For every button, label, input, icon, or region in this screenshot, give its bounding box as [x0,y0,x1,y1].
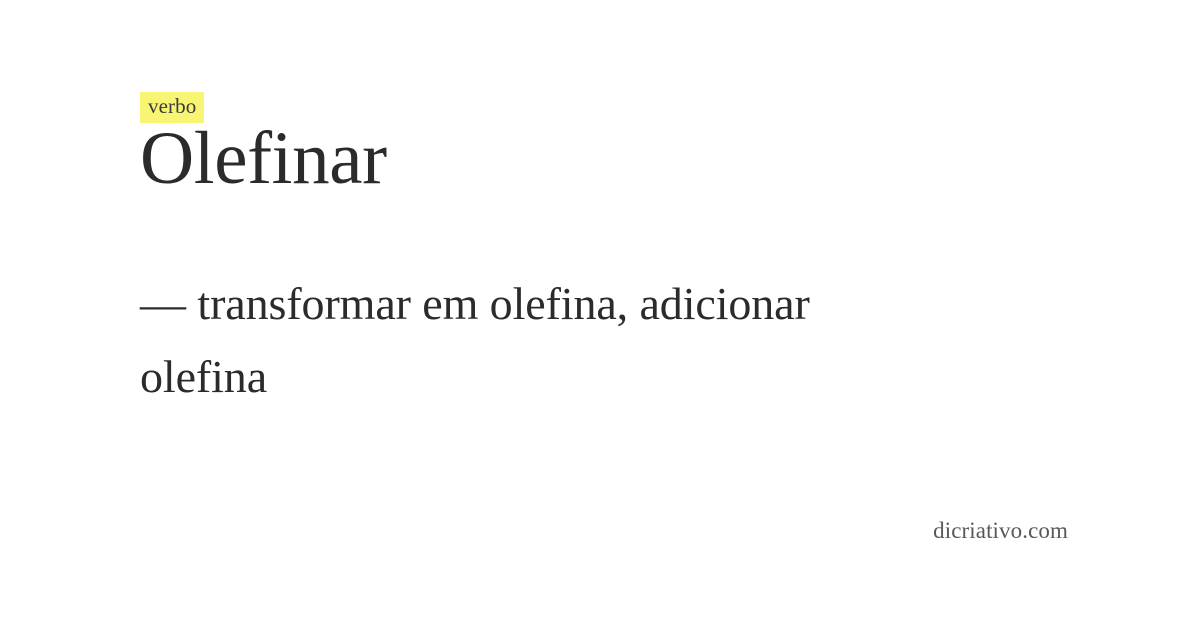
definition-block: — transformar em olefina, adicionar olef… [140,268,900,413]
headword-title: Olefinar [140,119,387,199]
dictionary-entry-card: verbo Olefinar — transformar em olefina,… [0,0,1200,620]
definition-text: transformar em olefina, adicionar olefin… [140,278,810,402]
site-attribution: dicriativo.com [933,516,1068,546]
definition-dash: — [140,278,186,329]
